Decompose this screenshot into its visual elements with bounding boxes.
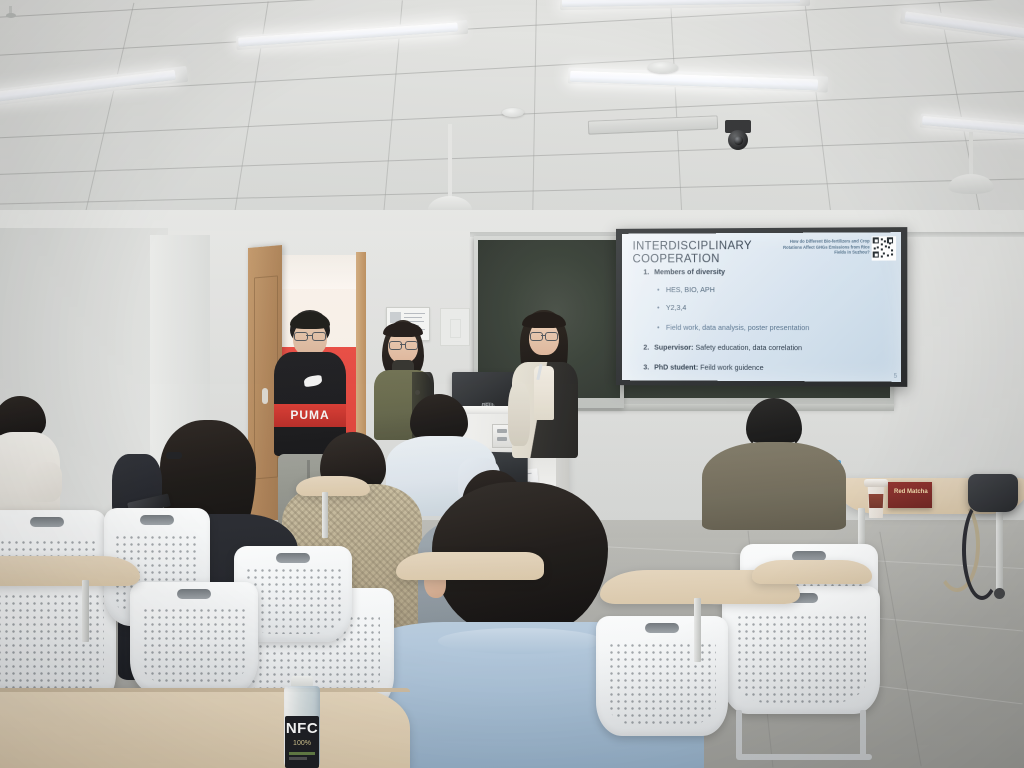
nfc-percent: 100% [285, 740, 319, 747]
smoke-detector-icon [648, 62, 678, 73]
table-leg [82, 580, 89, 642]
nfc-juice-bottle: NFC 100% [284, 676, 320, 768]
blank-wall-frame [440, 308, 470, 346]
sub-bullet-text: HES, BIO, APH [666, 285, 715, 294]
table-leg [322, 492, 328, 538]
arm [26, 462, 62, 502]
collar [438, 628, 602, 654]
stacking-chair[interactable] [596, 616, 728, 736]
sub-bullet-text: Field work, data analysis, poster presen… [666, 323, 809, 332]
slide-bullet-2: 2.Supervisor: Safety education, data cor… [643, 343, 802, 352]
glasses-icon [294, 332, 326, 341]
fringe [522, 312, 566, 328]
pendant-speaker-icon [948, 132, 994, 196]
table-edge [0, 688, 410, 692]
glasses-icon [389, 341, 418, 350]
foreground-table-left [0, 688, 410, 768]
slide-title: INTERDISCIPLINARY COOPERATION [633, 240, 781, 266]
pendant-speaker-icon [428, 124, 472, 216]
side-table-far-left [296, 476, 370, 496]
bullet-bold: PhD student: [654, 363, 698, 372]
slide-sub-bullet-3: •Field work, data analysis, poster prese… [657, 323, 809, 332]
nfc-brand: NFC [285, 720, 319, 737]
bullet-rest: Safety education, data correlation [693, 343, 802, 352]
bullet-bold: Supervisor: [654, 343, 693, 352]
bullet-number: 3. [643, 362, 654, 371]
hair-clip-icon [166, 452, 182, 459]
stacking-chair[interactable] [722, 586, 880, 714]
glasses-icon [530, 332, 558, 341]
fringe [290, 312, 330, 329]
backpack-strap [962, 500, 1002, 600]
slide-sub-bullet-1: •HES, BIO, APH [657, 285, 715, 294]
presenter-speaking [512, 310, 578, 490]
side-table-right-of-podium [752, 560, 872, 584]
slide-bullet-1: 1.Members of diversity [643, 267, 725, 276]
slide-page-number: 5 [894, 374, 897, 380]
presentation-slide: INTERDISCIPLINARY COOPERATION How do Dif… [622, 232, 901, 382]
sprinkler-head-icon [6, 6, 16, 18]
slide-sub-bullet-2: •Y2,3,4 [657, 303, 686, 312]
attendee-olive-back [700, 398, 846, 530]
door-handle-icon[interactable] [262, 388, 268, 404]
bullet-rest: Feild work guidence [698, 363, 763, 372]
table-caster [994, 588, 1005, 599]
coffee-cup [866, 476, 886, 510]
mid-table-left [0, 556, 140, 586]
slide-header-note: How do Different Bio-fertilizers and Cro… [771, 238, 870, 255]
ceiling [0, 0, 1024, 238]
fringe [383, 322, 423, 337]
arm [508, 382, 530, 446]
qr-code-icon [872, 236, 896, 260]
sub-bullet-text: Y2,3,4 [666, 303, 686, 312]
classroom-photo: INTERDISCIPLINARY COOPERATION How do Dif… [0, 0, 1024, 768]
bottle-label: NFC 100% [285, 716, 319, 768]
slide-bullet-3: 3.PhD student: Feild work guidence [643, 362, 763, 372]
bullet-bold: Members of diversity [654, 267, 725, 276]
air-vent-icon [588, 115, 718, 134]
bullet-number: 2. [643, 343, 654, 352]
mid-table-center [396, 552, 544, 580]
bullet-number: 1. [643, 267, 654, 276]
smoke-detector-icon [502, 108, 524, 117]
ptz-camera-icon [723, 120, 753, 154]
stacking-chair[interactable] [130, 582, 258, 694]
torso [702, 442, 846, 530]
table-leg [694, 598, 701, 662]
